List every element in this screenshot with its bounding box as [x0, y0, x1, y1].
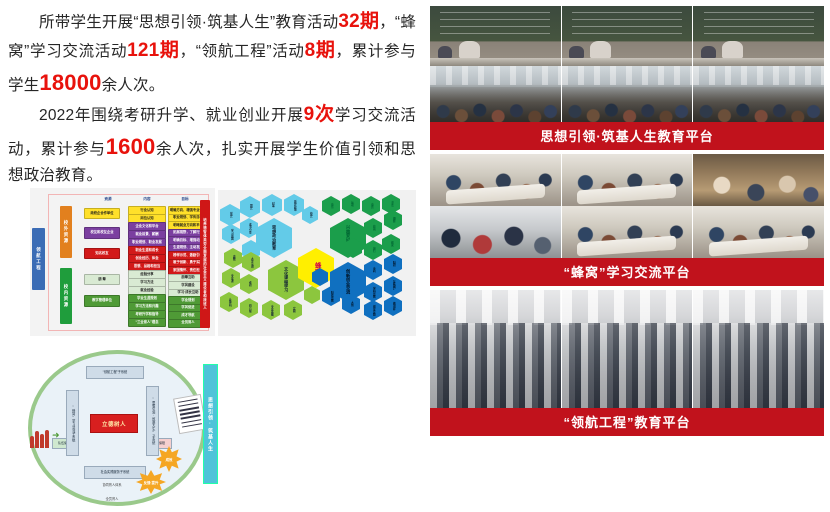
oval-center-label: 立德树人: [90, 414, 138, 433]
body-text: 余人次。: [102, 77, 165, 94]
photo-image-seminar: [693, 206, 824, 258]
board-speaker: [722, 41, 743, 58]
honeycomb-diagram: 思想政治教育党史团史时事形势政策校史学习强国读书分享文化课程学习高数大学英语专业…: [218, 190, 416, 336]
honeycomb-cell-1-7: 实验: [284, 300, 302, 320]
flowchart-source-1: 校内资源: [60, 268, 72, 324]
honeycomb-cell-1-5: 四六级: [240, 298, 258, 318]
photo-2-1: [562, 290, 693, 408]
photo-0-2: [693, 6, 824, 66]
honeycomb-cell-label: 学习强国: [230, 229, 233, 240]
photo-image-hall: [562, 290, 693, 408]
honeycomb-cell-label: 专利: [372, 267, 375, 272]
honeycomb-cell-3-6: 创业实践: [364, 300, 382, 320]
honeycomb-cell-label: 四六级: [248, 304, 251, 312]
photo-row-0-1: [430, 66, 824, 122]
honeycomb-cell-label: 创业实践: [372, 305, 375, 316]
board-chalk: [704, 12, 814, 40]
honeycomb-cell-label: 党史: [229, 212, 232, 217]
oval-side-banner: 思想引领·筑基人生: [203, 364, 218, 484]
highlight-value: 121期: [127, 40, 179, 61]
honeycomb-cell-label: 创新创业交流: [346, 269, 350, 294]
honeycomb-cell-label: 专业基础: [270, 305, 273, 316]
photo-image-crowd: [562, 66, 693, 122]
photo-panel-1: “蜂窝”学习交流平台: [430, 154, 824, 286]
honeycomb-cell-label: 摄影: [392, 217, 395, 222]
honeycomb-cell-2-0: 音乐: [322, 196, 340, 216]
honeycomb-cell-3-2: 专利: [364, 260, 382, 280]
board-desk: [693, 58, 824, 66]
photo-row-1-0: [430, 154, 824, 206]
honeycomb-cell-label: 旅行: [372, 247, 375, 252]
honeycomb-cell-3-7: 挑战杯: [384, 296, 402, 316]
honeycomb-cell-1-2: 专业课: [222, 268, 240, 288]
honeycomb-cell-2-7: 旅行: [364, 240, 382, 260]
oval-burst-0: 成效: [156, 446, 182, 472]
honeycomb-cell-label: 音乐: [330, 203, 333, 208]
honeycomb-cell-label: 书法: [390, 201, 393, 206]
students-group-icon: [30, 426, 52, 448]
oval-node-right: “思想引领·筑基人生”子系统: [146, 386, 159, 456]
honeycomb-cell-1-3: 考研: [240, 274, 258, 294]
photo-image-seminar: [562, 154, 693, 206]
photo-row-0-0: [430, 6, 824, 66]
honeycomb-cell-label: 形势政策: [293, 200, 296, 211]
flowchart-mid-3: 朋 辈: [84, 274, 120, 285]
photo-1-4: [562, 206, 693, 258]
photo-1-3: [430, 206, 561, 258]
board-desk: [430, 58, 561, 66]
honeycomb-cell-label: 电竞: [370, 203, 373, 208]
honeycomb-cell-0-5: 学习强国: [222, 224, 240, 244]
policy-document-icon: [173, 394, 207, 434]
flowchart-outcome-bar: 培养德智体美劳全面发展的社会主义建设者和接班人: [200, 200, 210, 328]
flowchart-mid-4: 教学管理单位: [84, 295, 120, 307]
flowchart-mid-1: 校友和校友企业: [84, 227, 120, 239]
honeycomb-cell-2-1: 运动: [342, 194, 360, 214]
honeycomb-cell-label: 时事: [271, 202, 274, 207]
photo-0-1: [562, 6, 693, 66]
honeycomb-cell-label: 计算机: [228, 298, 231, 306]
photo-1-1: [562, 154, 693, 206]
honeycomb-cell-3-3: 科研: [384, 254, 402, 274]
flowchart-content-item-14: “三全育人”理念: [128, 318, 166, 327]
honeycomb-cell-label: 实验: [292, 307, 295, 312]
honeycomb-cell-0-6: 读书分享: [240, 218, 258, 238]
flowchart-col-header-2: 目标: [168, 197, 202, 202]
board-speaker: [459, 41, 480, 58]
oval-node-bottom: 社会实践服务子系统: [84, 466, 146, 479]
photo-panel-caption-1: “蜂窝”学习交流平台: [430, 258, 824, 286]
highlight-value: 32期: [338, 11, 379, 32]
honeycomb-cell-1-4: 计算机: [220, 292, 238, 312]
photo-image-hall: [693, 290, 824, 408]
photo-0-5: [693, 66, 824, 122]
honeycomb-cell-label: 互联网+: [392, 280, 395, 291]
photo-0-0: [430, 6, 561, 66]
education-system-oval-diagram: ➜ 队伍保障 ➜ 制度保障 “蜂窝”学习交流子系统 “思想引领·筑基人生”子系统…: [28, 342, 218, 504]
photo-2-2: [693, 290, 824, 408]
photo-row-1-1: [430, 206, 824, 258]
photo-1-5: [693, 206, 824, 258]
body-text: ，“领航工程”活动: [180, 43, 305, 60]
honeycomb-cell-1-6: 专业基础: [262, 300, 280, 320]
photo-panels-column: 思想引领·筑基人生教育平台“蜂窝”学习交流平台“领航工程”教育平台: [430, 6, 824, 440]
highlight-value: 8期: [305, 40, 336, 61]
honeycomb-cell-2-3: 书法: [382, 194, 400, 214]
honeycomb-cell-label: 科研: [392, 261, 395, 266]
honeycomb-cell-label: 文化课程学习: [284, 267, 288, 292]
honeycomb-cell-label: 挑战杯: [392, 302, 395, 310]
honeycomb-cell-2-5: 绘画: [364, 218, 382, 238]
oval-caption-1: 全员育人: [42, 496, 182, 501]
honeycomb-cell-1-0: 高数: [224, 248, 242, 268]
honeycomb-cell-label: 高数: [232, 255, 235, 260]
summary-text-block: 所带学生开展“思想引领·筑基人生”教育活动32期，“蜂窝”学习交流活动121期，…: [8, 8, 416, 189]
photo-2-0: [430, 290, 561, 408]
photo-panel-caption-0: 思想引领·筑基人生教育平台: [430, 122, 824, 150]
navigation-project-flowchart: 领航工程 资源 内容 目标 校外资源 校内资源 政校企合作单位 校友和校友企业 …: [30, 188, 215, 336]
paragraph-2022-activities: 2022年围绕考研升学、就业创业开展9次学习交流活动，累计参与1600余人次，扎…: [8, 101, 416, 187]
honeycomb-cell-label: 学科竞赛: [372, 287, 375, 298]
honeycomb-cell-label: 校史: [309, 212, 312, 217]
photo-panel-caption-2: “领航工程”教育平台: [430, 408, 824, 436]
photo-image-board: [430, 6, 561, 66]
flowchart-mid-0: 政校企合作单位: [84, 208, 120, 219]
honeycomb-cell-label: 专业课: [230, 274, 233, 282]
photo-0-4: [562, 66, 693, 122]
honeycomb-cell-0-2: 时事: [262, 194, 282, 216]
honeycomb-core-0: 思想政治教育: [256, 218, 292, 258]
photo-1-0: [430, 154, 561, 206]
honeycomb-cell-3-5: 互联网+: [384, 276, 402, 296]
photo-image-crowd: [430, 66, 561, 122]
oval-caption-0: 协同育人体系: [42, 482, 182, 487]
honeycomb-cell-label: 大学英语: [250, 257, 253, 268]
photo-image-board: [562, 6, 693, 66]
board-chalk: [440, 12, 550, 40]
photo-image-board: [693, 6, 824, 66]
photo-panel-0: 思想引领·筑基人生教育平台: [430, 6, 824, 150]
honeycomb-cell-2-2: 电竞: [362, 196, 380, 216]
photo-panel-2: “领航工程”教育平台: [430, 290, 824, 436]
highlight-value: 18000: [39, 70, 101, 95]
photo-image-crowd: [693, 66, 824, 122]
honeycomb-cell-1-8: [304, 286, 320, 304]
photo-row-2-0: [430, 290, 824, 408]
flowchart-col-header-0: 资源: [88, 197, 128, 202]
honeycomb-cell-0-1: 团史: [240, 196, 260, 218]
honeycomb-cell-0-3: 形势政策: [284, 194, 304, 216]
honeycomb-cell-label: 大创: [350, 301, 353, 306]
honeycomb-cell-label: 读书分享: [248, 223, 251, 234]
board-speaker2: [701, 46, 715, 58]
highlight-value: 1600: [106, 134, 156, 159]
oval-node-top: “领航工程”子系统: [86, 366, 144, 379]
body-text: 所带学生开展“思想引领·筑基人生”教育活动: [39, 14, 338, 31]
board-chalk: [572, 12, 682, 40]
flowchart-title-bar: 领航工程: [32, 228, 45, 290]
photo-image-seminar: [430, 154, 561, 206]
photo-image-seminar: [562, 206, 693, 258]
flowchart-col-header-1: 内容: [134, 197, 160, 202]
board-speaker2: [569, 46, 583, 58]
highlight-value: 9次: [304, 104, 335, 125]
board-speaker2: [438, 46, 452, 58]
honeycomb-cell-label: 考研: [248, 281, 251, 286]
board-desk: [562, 58, 693, 66]
oval-node-left: “蜂窝”学习交流子系统: [66, 390, 79, 456]
honeycomb-cell-3-4: 学科竞赛: [364, 282, 382, 302]
flowchart-mid-2: 知名校友: [84, 248, 120, 259]
board-speaker: [590, 41, 611, 58]
photo-0-3: [430, 66, 561, 122]
photo-image-hall: [430, 290, 561, 408]
photo-1-2: [693, 154, 824, 206]
honeycomb-cell-label: 科技竞赛: [330, 291, 333, 302]
honeycomb-cell-label: 运动: [350, 201, 353, 206]
honeycomb-cell-2-4: 摄影: [384, 210, 402, 230]
honeycomb-cell-label: 绘画: [372, 225, 375, 230]
honeycomb-cell-0-0: 党史: [220, 204, 240, 226]
body-text: 2022年围绕考研升学、就业创业开展: [39, 107, 304, 124]
flowchart-source-0: 校外资源: [60, 206, 72, 258]
photo-image-lib: [693, 154, 824, 206]
paragraph-achievements: 所带学生开展“思想引领·筑基人生”教育活动32期，“蜂窝”学习交流活动121期，…: [8, 8, 416, 99]
photo-image-lab: [430, 206, 561, 258]
honeycomb-cell-0-4: 校史: [302, 206, 318, 224]
slide-root: 所带学生开展“思想引领·筑基人生”教育活动32期，“蜂窝”学习交流活动121期，…: [0, 0, 830, 512]
honeycomb-cell-label: 思想政治教育: [272, 225, 276, 250]
honeycomb-cell-label: 团史: [249, 204, 252, 209]
honeycomb-cell-label: 阅读: [390, 241, 393, 246]
honeycomb-cell-2-6: 阅读: [382, 234, 400, 254]
